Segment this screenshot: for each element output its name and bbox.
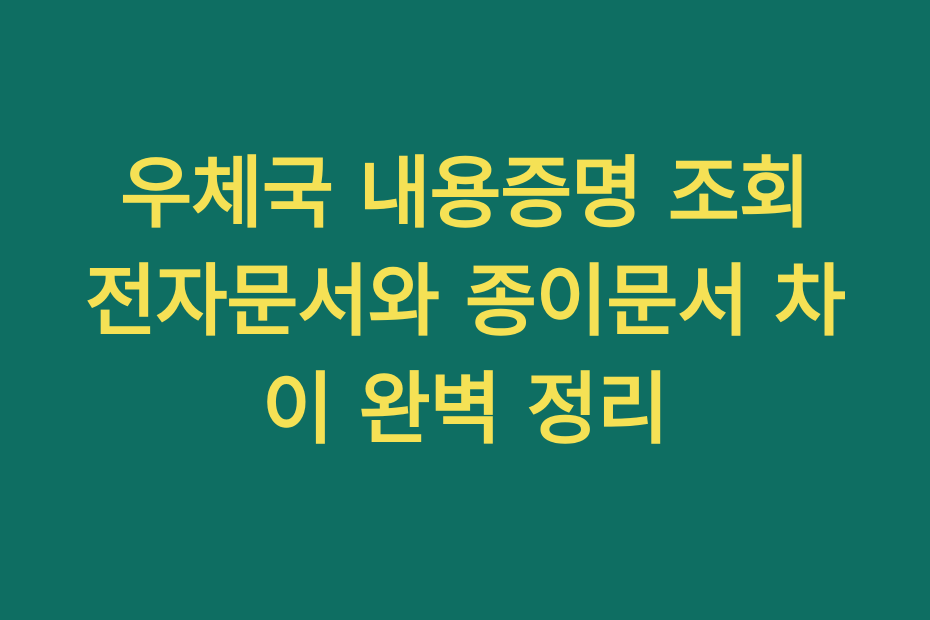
page-title: 우체국 내용증명 조회 전자문서와 종이문서 차 이 완벽 정리 — [70, 140, 860, 464]
title-line-3: 이 완벽 정리 — [70, 356, 860, 464]
title-line-1: 우체국 내용증명 조회 — [70, 140, 860, 248]
title-line-2: 전자문서와 종이문서 차 — [70, 248, 860, 356]
thumbnail-card: 우체국 내용증명 조회 전자문서와 종이문서 차 이 완벽 정리 — [0, 0, 930, 620]
